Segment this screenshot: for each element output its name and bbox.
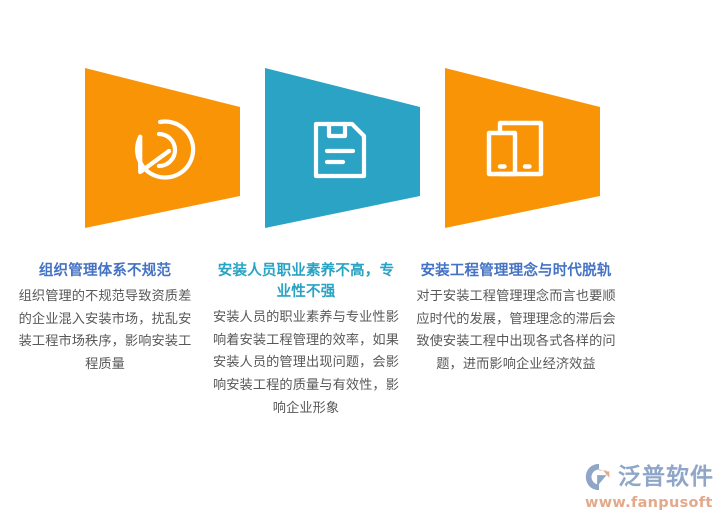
banner-1 [85, 68, 240, 228]
infographic-root: 组织管理体系不规范 组织管理的不规范导致资质差的企业混入安装市场，扰乱安装工程市… [0, 0, 714, 518]
watermark-brand-name: 泛普软件 [618, 466, 714, 489]
banner-3 [445, 68, 600, 228]
column-3-title: 安装工程管理理念与时代脱轨 [416, 261, 616, 282]
fanpu-logo-icon [584, 462, 614, 492]
column-1-body: 组织管理的不规范导致资质差的企业混入安装市场，扰乱安装工程市场秩序，影响安装工程… [14, 286, 196, 377]
column-management-concept: 安装工程管理理念与时代脱轨 对于安装工程管理理念而言也要顺应时代的发展，管理理念… [408, 255, 638, 377]
banner-row [0, 0, 714, 250]
banner-3-shape [445, 68, 600, 228]
column-2-title: 安装人员职业素养不高，专业性不强 [212, 261, 400, 303]
banner-shapes-svg [0, 0, 714, 250]
watermark-brand-row: 泛普软件 [584, 462, 714, 492]
column-3-body: 对于安装工程管理理念而言也要顺应时代的发展，管理理念的滞后会致使安装工程中出现各… [416, 286, 616, 377]
column-organization: 组织管理体系不规范 组织管理的不规范导致资质差的企业混入安装市场，扰乱安装工程市… [0, 255, 204, 377]
column-1-title: 组织管理体系不规范 [14, 261, 196, 282]
column-2-body: 安装人员的职业素养与专业性影响着安装工程管理的效率，如果安装人员的管理出现问题，… [212, 307, 400, 421]
column-personnel: 安装人员职业素养不高，专业性不强 安装人员的职业素养与专业性影响着安装工程管理的… [204, 255, 408, 421]
banner-1-shape [85, 68, 240, 228]
banner-2-shape [265, 68, 420, 228]
watermark-logo: 泛普软件 www.fanpusoft.com [584, 460, 708, 512]
banner-2 [265, 68, 420, 228]
watermark-url: www.fanpusoft.com [585, 495, 714, 511]
